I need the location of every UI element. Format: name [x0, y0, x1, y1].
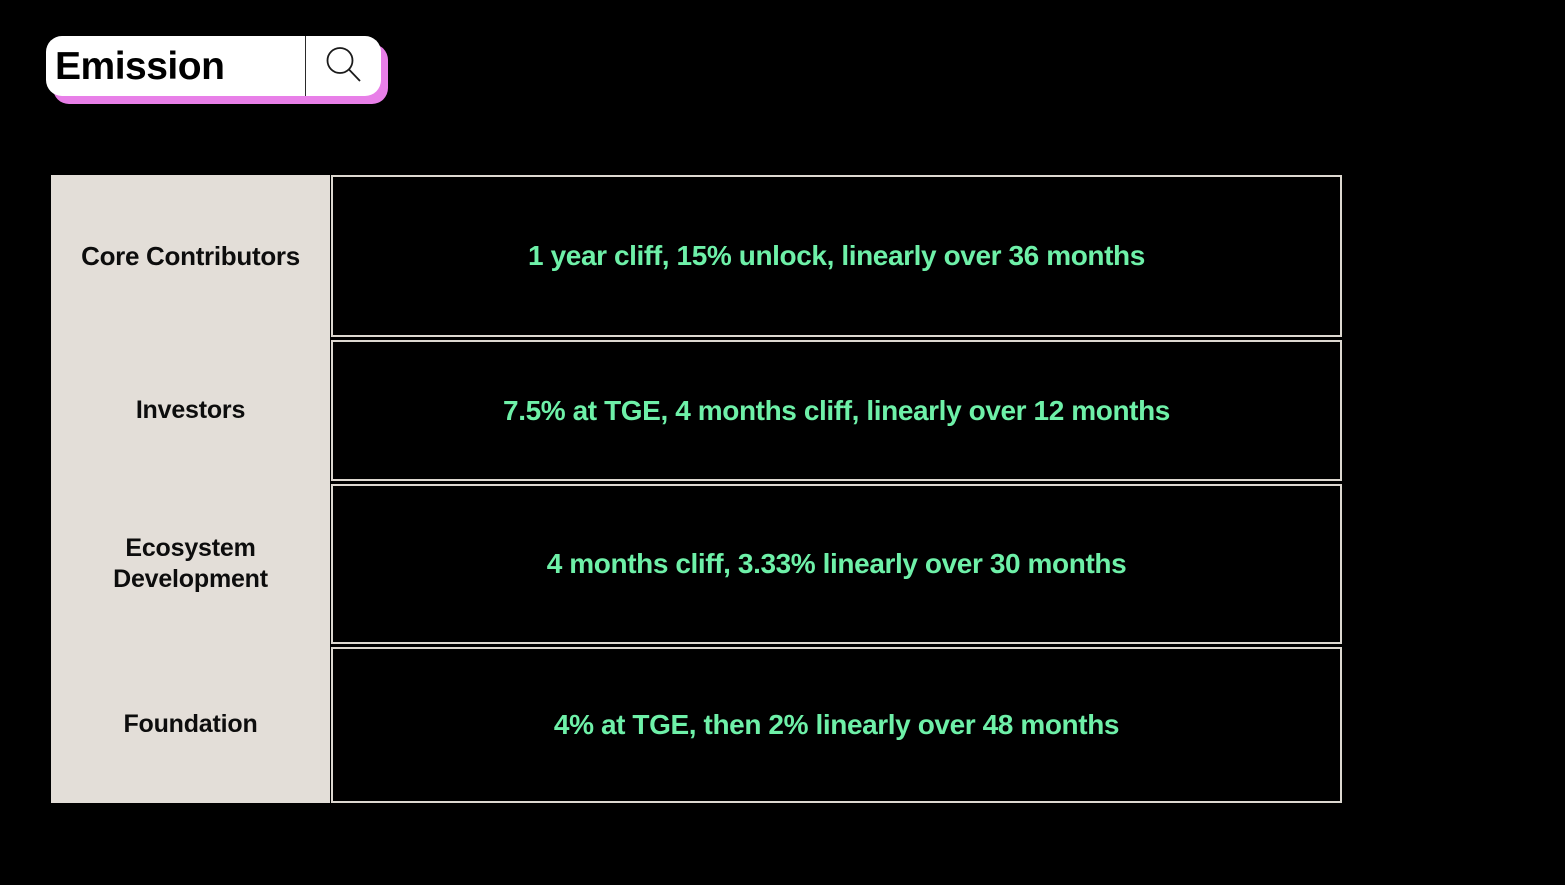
table-row-label-core-contributors: Core Contributors: [51, 175, 330, 337]
row-label-text: Investors: [136, 395, 245, 426]
table-row-value-core-contributors: 1 year cliff, 15% unlock, linearly over …: [331, 175, 1342, 337]
row-label-line-1: Ecosystem: [125, 534, 255, 562]
table-row-value-foundation: 4% at TGE, then 2% linearly over 48 mont…: [331, 647, 1342, 803]
row-value-text: 4% at TGE, then 2% linearly over 48 mont…: [554, 708, 1119, 742]
row-value-text: 7.5% at TGE, 4 months cliff, linearly ov…: [503, 394, 1170, 428]
table-row-value-investors: 7.5% at TGE, 4 months cliff, linearly ov…: [331, 340, 1342, 481]
search-button[interactable]: [306, 36, 381, 96]
magnifier-icon: [321, 43, 367, 89]
row-label-line-2: Development: [113, 565, 268, 593]
search-input[interactable]: Emission: [46, 36, 306, 96]
table-row-label-investors: Investors: [51, 340, 330, 481]
emission-table: Core Contributors 1 year cliff, 15% unlo…: [51, 175, 1342, 803]
row-label-text-multiline: Ecosystem Development: [113, 533, 268, 596]
table-row: Investors 7.5% at TGE, 4 months cliff, l…: [51, 340, 1342, 481]
table-row: Ecosystem Development 4 months cliff, 3.…: [51, 484, 1342, 644]
row-value-text: 1 year cliff, 15% unlock, linearly over …: [528, 239, 1145, 273]
search-input-value: Emission: [55, 47, 224, 86]
search-box[interactable]: Emission: [46, 36, 381, 96]
row-label-text: Foundation: [123, 709, 257, 740]
search-widget[interactable]: Emission: [46, 36, 381, 96]
table-row: Core Contributors 1 year cliff, 15% unlo…: [51, 175, 1342, 337]
table-row-label-foundation: Foundation: [51, 647, 330, 803]
row-value-text: 4 months cliff, 3.33% linearly over 30 m…: [547, 547, 1127, 581]
table-row-value-ecosystem-development: 4 months cliff, 3.33% linearly over 30 m…: [331, 484, 1342, 644]
table-row-label-ecosystem-development: Ecosystem Development: [51, 484, 330, 644]
table-row: Foundation 4% at TGE, then 2% linearly o…: [51, 647, 1342, 803]
row-label-text: Core Contributors: [81, 240, 300, 273]
